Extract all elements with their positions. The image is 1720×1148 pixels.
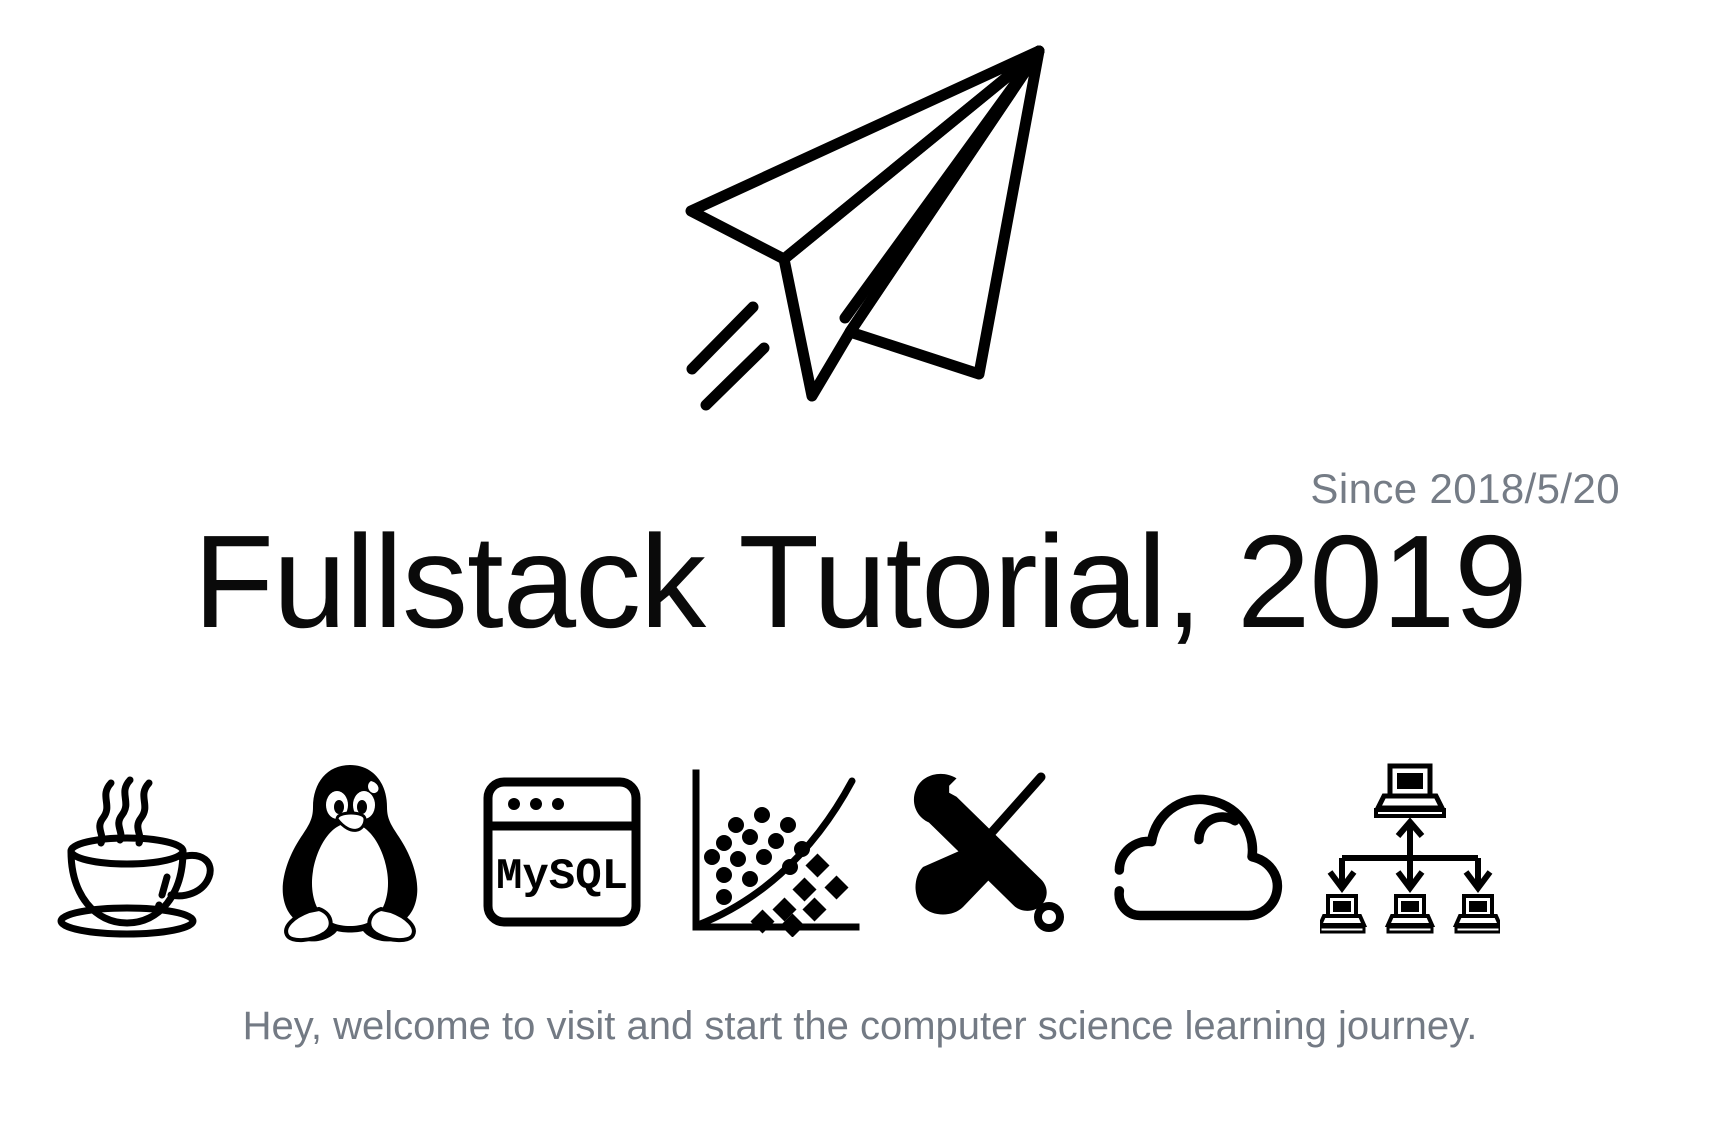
- icon-cell-machine-learning: [684, 752, 864, 952]
- icon-cell-cloud: [1108, 752, 1288, 952]
- mysql-icon-label: MySQL: [496, 852, 628, 902]
- since-row: Since 2018/5/20: [0, 468, 1720, 510]
- landing-page: Since 2018/5/20 Fullstack Tutorial, 2019: [0, 0, 1720, 1148]
- tools-icon: [899, 765, 1074, 940]
- mysql-window-icon: MySQL: [478, 768, 646, 936]
- scatter-plot-icon: [684, 767, 864, 937]
- cloud-icon: [1108, 777, 1288, 927]
- client-laptop-icon-1: [1320, 896, 1364, 932]
- network-icon: [1320, 762, 1500, 942]
- server-laptop-icon: [1376, 766, 1444, 816]
- icon-cell-network: [1320, 752, 1500, 952]
- tagline-row: Hey, welcome to visit and start the comp…: [0, 1000, 1720, 1052]
- technology-icon-row: MySQL: [48, 752, 1500, 952]
- penguin-icon: [275, 761, 425, 943]
- page-title-row: Fullstack Tutorial, 2019: [0, 508, 1720, 656]
- paper-plane-icon: [660, 18, 1060, 418]
- coffee-cup-icon: [51, 765, 226, 940]
- icon-cell-java: [48, 752, 228, 952]
- icon-cell-tools: [896, 752, 1076, 952]
- icon-cell-linux: [260, 752, 440, 952]
- page-title: Fullstack Tutorial, 2019: [193, 508, 1526, 656]
- icon-cell-mysql: MySQL: [472, 752, 652, 952]
- paper-plane-logo: [0, 18, 1720, 418]
- client-laptop-icon-3: [1456, 896, 1500, 932]
- since-label: Since 2018/5/20: [1310, 468, 1620, 510]
- client-laptop-icon-2: [1388, 896, 1432, 932]
- tagline: Hey, welcome to visit and start the comp…: [243, 1000, 1478, 1052]
